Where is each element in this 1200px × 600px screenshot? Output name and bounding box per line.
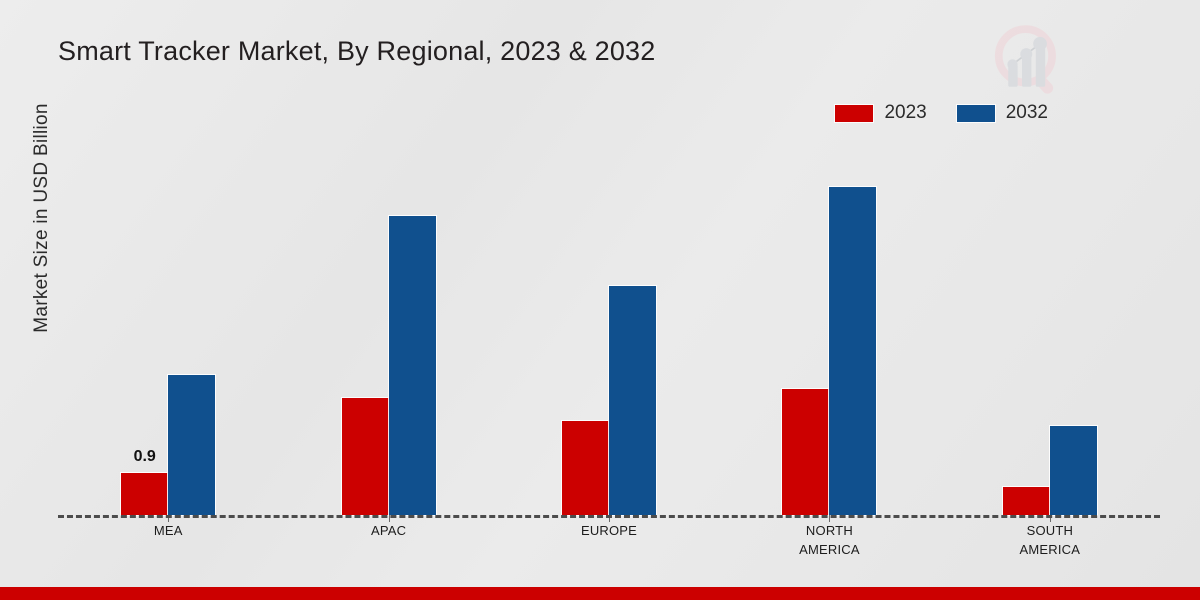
x-axis-label-south-america: SOUTHAMERICA	[940, 521, 1160, 559]
legend-item-2023[interactable]: 2023	[835, 102, 926, 124]
legend-label-2023: 2023	[884, 102, 926, 124]
bar-2023-europe[interactable]	[562, 421, 609, 515]
bar-group: APAC	[278, 150, 498, 515]
chart-legend: 2023 2032	[835, 102, 1048, 124]
market-research-magnifier-logo	[985, 18, 1071, 104]
bar-2032-mea[interactable]	[168, 375, 215, 515]
bar-2023-south-america[interactable]	[1003, 487, 1050, 515]
bar-2023-north-america[interactable]	[782, 389, 829, 515]
bar-group: SOUTHAMERICA	[940, 150, 1160, 515]
x-axis-label-europe: EUROPE	[499, 521, 719, 540]
bar-pair	[562, 150, 656, 515]
y-axis-title: Market Size in USD Billion	[31, 58, 53, 378]
legend-item-2032[interactable]: 2032	[957, 102, 1048, 124]
chart-title: Smart Tracker Market, By Regional, 2023 …	[58, 36, 655, 67]
bar-2032-apac[interactable]	[389, 216, 436, 515]
bar-pair	[1003, 150, 1097, 515]
bar-2032-europe[interactable]	[609, 286, 656, 515]
bar-2032-south-america[interactable]	[1050, 426, 1097, 515]
bar-2023-mea[interactable]	[121, 473, 168, 515]
x-axis-label-apac: APAC	[278, 521, 498, 540]
x-axis-baseline	[58, 515, 1160, 518]
bar-2023-apac[interactable]	[342, 398, 389, 515]
bar-group: 0.9MEA	[58, 150, 278, 515]
bar-group: NORTHAMERICA	[719, 150, 939, 515]
bar-2032-north-america[interactable]	[829, 187, 876, 515]
bar-pair	[342, 150, 436, 515]
bar-groups: 0.9MEAAPACEUROPENORTHAMERICASOUTHAMERICA	[58, 150, 1160, 515]
data-label: 0.9	[121, 448, 168, 466]
chart-canvas: Smart Tracker Market, By Regional, 2023 …	[0, 0, 1200, 600]
footer-accent-bar	[0, 587, 1200, 600]
legend-swatch-2032	[957, 105, 995, 122]
bar-group: EUROPE	[499, 150, 719, 515]
x-axis-label-north-america: NORTHAMERICA	[719, 521, 939, 559]
x-axis-label-mea: MEA	[58, 521, 278, 540]
legend-swatch-2023	[835, 105, 873, 122]
legend-label-2032: 2032	[1006, 102, 1048, 124]
plot-area: 0.9MEAAPACEUROPENORTHAMERICASOUTHAMERICA	[58, 150, 1160, 515]
bar-pair	[782, 150, 876, 515]
